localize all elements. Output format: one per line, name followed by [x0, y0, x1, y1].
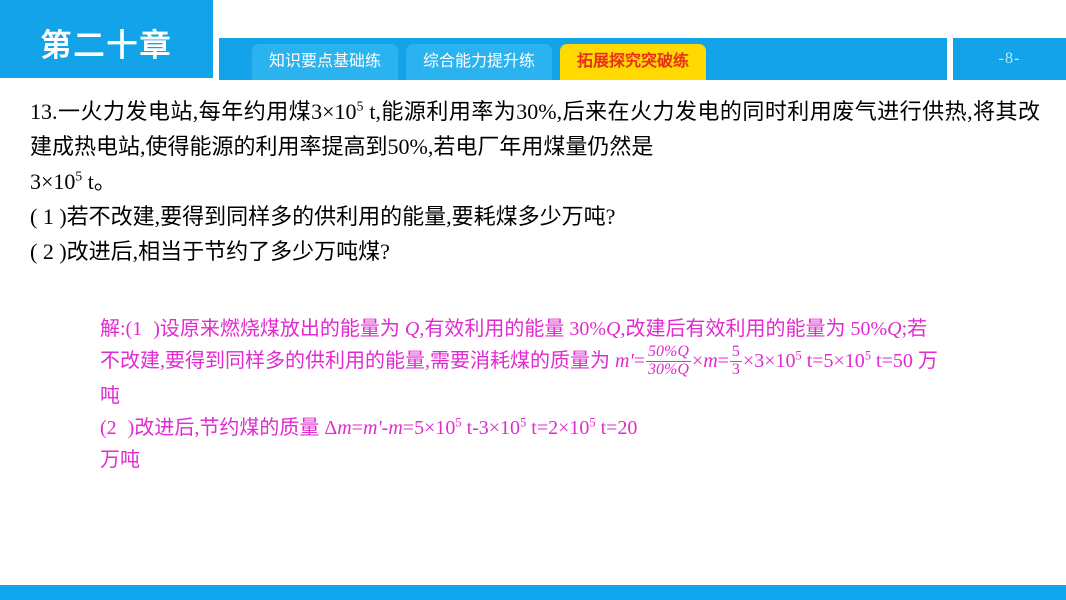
solution-intro-prefix: 解:( — [100, 318, 132, 340]
solution-part2-equals-1: = — [352, 417, 363, 439]
solution-part2-text-1: t-3×10 — [462, 417, 521, 439]
question-line3-part-1: 3×10 — [30, 169, 75, 194]
solution-fraction-1: 50%Q30%Q — [646, 344, 691, 379]
tab-comprehensive-practice[interactable]: 综合能力提升练 — [406, 44, 552, 80]
page-number: -8- — [999, 50, 1021, 68]
tab-extension-practice[interactable]: 拓展探究突破练 — [560, 44, 706, 80]
tab-bar: 知识要点基础练 综合能力提升练 拓展探究突破练 — [219, 38, 947, 80]
solution-part2-variable-m-prime: m' — [363, 417, 382, 439]
question-block: 13.一火力发电站,每年约用煤3×105 t,能源利用率为30%,后来在火力发电… — [30, 94, 1040, 269]
tab-extension-practice-label: 拓展探究突破练 — [577, 53, 689, 70]
solution-variable-m: m — [703, 350, 717, 372]
slide-content: 13.一火力发电站,每年约用煤3×105 t,能源利用率为30%,后来在火力发电… — [0, 80, 1066, 585]
solution-variable-m-prime: m' — [615, 350, 634, 372]
solution-tail-2: t=5×10 — [802, 350, 865, 372]
solution-intro-index: 1 — [132, 318, 153, 340]
solution-block: 解:(1)设原来燃烧煤放出的能量为 Q,有效利用的能量 30%Q,改建后有效利用… — [100, 313, 940, 476]
solution-equals-2: = — [718, 350, 729, 372]
chapter-banner: 第二十章 — [0, 0, 213, 78]
page-header: 第二十章 知识要点基础练 综合能力提升练 拓展探究突破练 -8- — [0, 0, 1066, 80]
solution-part2-equals-2: =5×10 — [403, 417, 456, 439]
solution-part2-variable-m-2: m — [388, 417, 402, 439]
solution-variable-q-3: Q — [887, 318, 901, 340]
solution-tail-1: ×3×10 — [743, 350, 796, 372]
solution-fraction-2-numerator: 5 — [730, 344, 742, 361]
solution-fraction-2: 53 — [730, 344, 742, 379]
solution-text-b: ,改建后有效利用的能量为 50% — [620, 318, 887, 340]
chapter-title: 第二十章 — [41, 20, 173, 65]
solution-multiply-1: × — [692, 350, 703, 372]
footer-bar — [0, 585, 1066, 600]
question-statement: 13.一火力发电站,每年约用煤3×105 t,能源利用率为30%,后来在火力发电… — [30, 94, 1040, 164]
solution-intro-after: )设原来燃烧煤放出的能量为 — [153, 318, 405, 340]
solution-part2-text-3: t=20 — [596, 417, 638, 439]
solution-part2-text-2: t=2×10 — [526, 417, 589, 439]
solution-part-1: 解:(1)设原来燃烧煤放出的能量为 Q,有效利用的能量 30%Q,改建后有效利用… — [100, 313, 940, 412]
solution-fraction-1-denominator: 30%Q — [646, 361, 691, 379]
page-number-box: -8- — [953, 38, 1066, 80]
question-line3-part-2: t。 — [82, 169, 116, 194]
solution-equals-1: = — [634, 350, 645, 372]
solution-variable-q-2: Q — [606, 318, 620, 340]
solution-fraction-2-denominator: 3 — [730, 361, 742, 379]
solution-part2-prefix: ( — [100, 417, 107, 439]
tab-basic-practice[interactable]: 知识要点基础练 — [252, 44, 398, 80]
solution-part2-index: 2 — [107, 417, 128, 439]
question-sub-2: ( 2 )改进后,相当于节约了多少万吨煤? — [30, 234, 1040, 269]
solution-part2-after: )改进后,节约煤的质量 Δ — [128, 417, 338, 439]
tab-comprehensive-practice-label: 综合能力提升练 — [423, 53, 535, 70]
solution-fraction-1-numerator: 50%Q — [646, 344, 691, 361]
solution-part2-variable-m: m — [337, 417, 351, 439]
solution-part-2-last-line: 万吨 — [100, 444, 940, 476]
question-sub-1: ( 1 )若不改建,要得到同样多的供利用的能量,要耗煤多少万吨? — [30, 199, 1040, 234]
tab-list: 知识要点基础练 综合能力提升练 拓展探究突破练 — [219, 38, 714, 80]
solution-part-2: (2)改进后,节约煤的质量 Δm=m'-m=5×105 t-3×105 t=2×… — [100, 412, 940, 444]
question-statement-part-1: 13.一火力发电站,每年约用煤3×10 — [30, 99, 357, 124]
tab-basic-practice-label: 知识要点基础练 — [269, 53, 381, 70]
question-statement-line3: 3×105 t。 — [30, 164, 1040, 199]
solution-variable-q-1: Q — [405, 318, 419, 340]
solution-text-a: ,有效利用的能量 30% — [419, 318, 606, 340]
